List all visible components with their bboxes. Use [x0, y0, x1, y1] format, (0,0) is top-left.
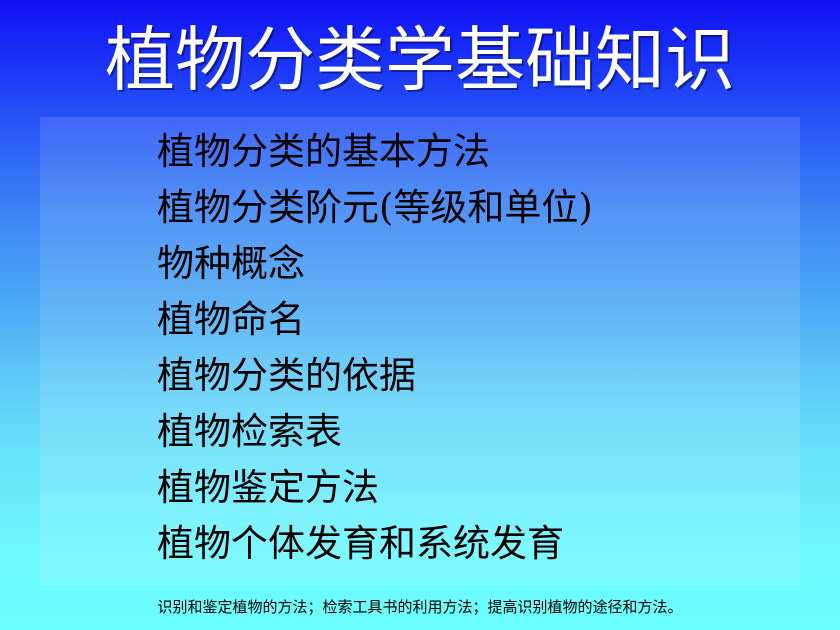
list-item: 植物分类的依据	[157, 348, 817, 404]
slide-footer-note: 识别和鉴定植物的方法；检索工具书的利用方法；提高识别植物的途径和方法。	[0, 596, 840, 618]
list-item: 物种概念	[157, 236, 817, 292]
list-item: 植物个体发育和系统发育	[157, 516, 817, 572]
list-item: 植物分类的基本方法	[157, 124, 817, 180]
bullet-list: 植物分类的基本方法 植物分类阶元(等级和单位) 物种概念 植物命名 植物分类的依…	[157, 124, 817, 572]
list-item: 植物命名	[157, 292, 817, 348]
presentation-slide: 植物分类学基础知识 植物分类的基本方法 植物分类阶元(等级和单位) 物种概念 植…	[0, 0, 840, 630]
list-item: 植物检索表	[157, 404, 817, 460]
list-item: 植物鉴定方法	[157, 460, 817, 516]
slide-title: 植物分类学基础知识	[0, 18, 840, 102]
list-item: 植物分类阶元(等级和单位)	[157, 180, 817, 236]
